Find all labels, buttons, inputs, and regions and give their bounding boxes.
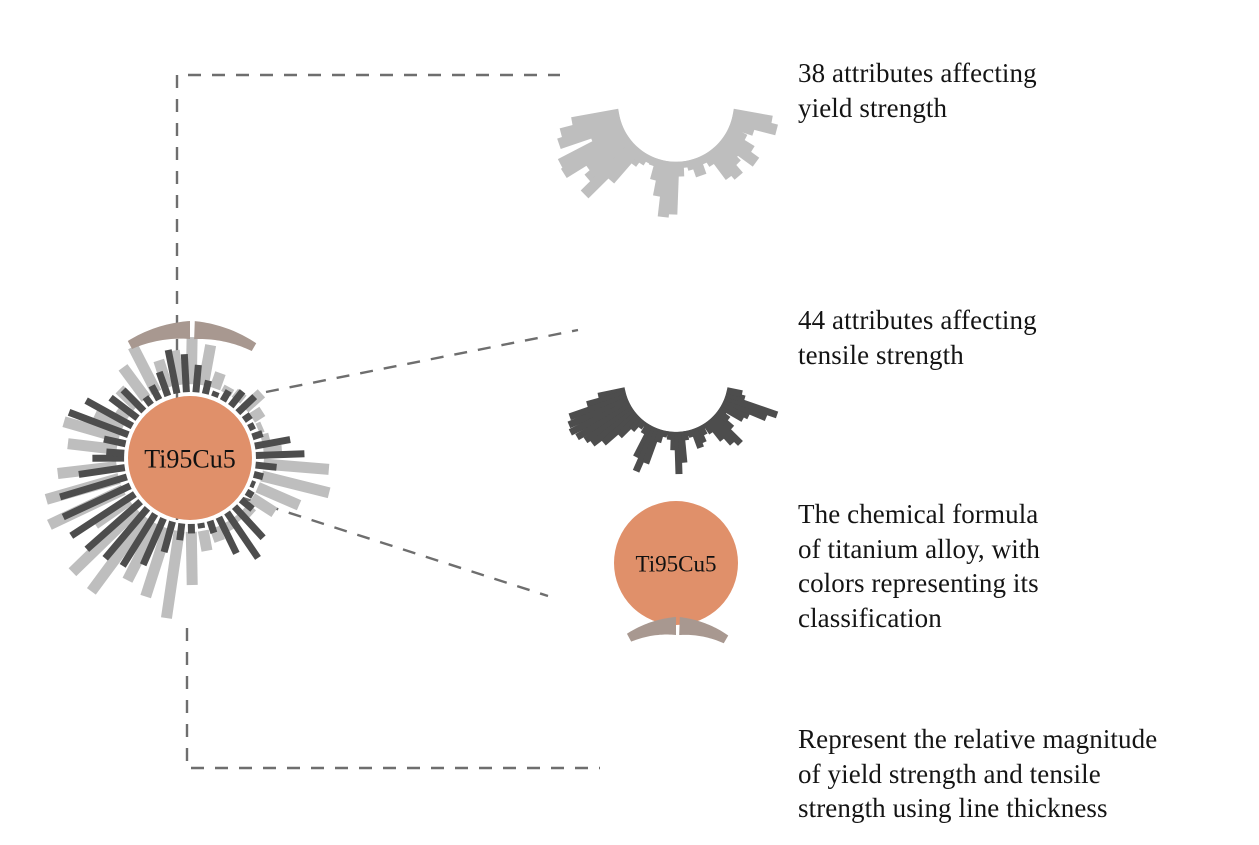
tensile-bar xyxy=(256,450,305,459)
legend-ribbon-label: Represent the relative magnitude of yiel… xyxy=(798,722,1259,826)
yield-bar xyxy=(198,530,213,552)
tensile-bar xyxy=(253,471,264,480)
yield-callout-chart xyxy=(557,109,778,218)
yield-callout-bars-group xyxy=(557,109,778,218)
main-ribbon-segment-0 xyxy=(128,321,190,349)
main-radial-chart: Ti95Cu5 xyxy=(45,321,331,619)
legend-node-label: Ti95Cu5 xyxy=(636,552,717,577)
main-node-label: Ti95Cu5 xyxy=(144,445,236,474)
tensile-bar xyxy=(247,422,256,431)
tensile-callout-bars-group xyxy=(568,387,779,474)
tensile-bar xyxy=(106,448,124,456)
legend-node-swatch: Ti95Cu5 xyxy=(614,501,738,625)
figure-root: Ti95Cu5 Ti95Cu5 38 attributes affecting … xyxy=(0,0,1259,845)
yield-bar xyxy=(186,532,198,585)
radial-attribute-diagram: Ti95Cu5 Ti95Cu5 xyxy=(0,0,1259,845)
leader-lines-group xyxy=(177,75,600,768)
legend-formula-label: The chemical formula of titanium alloy, … xyxy=(798,497,1218,635)
tensile-callout-chart xyxy=(568,387,779,474)
ribbon-callout-segment-1 xyxy=(679,617,728,643)
tensile-bar xyxy=(188,524,195,534)
legend-tensile-label: 44 attributes affecting tensile strength xyxy=(798,303,1228,372)
tensile-bar xyxy=(197,522,205,528)
leader-formula xyxy=(243,498,548,596)
ribbon-callout-segment-0 xyxy=(627,617,676,642)
main-ribbon-segment-1 xyxy=(194,321,256,351)
leader-tensile xyxy=(266,330,578,392)
tensile-bar xyxy=(176,523,185,541)
legend-yield-label: 38 attributes affecting yield strength xyxy=(798,56,1228,125)
leader-ribbon xyxy=(187,628,600,768)
tensile-bar xyxy=(249,480,256,488)
tensile-bar xyxy=(211,391,219,399)
